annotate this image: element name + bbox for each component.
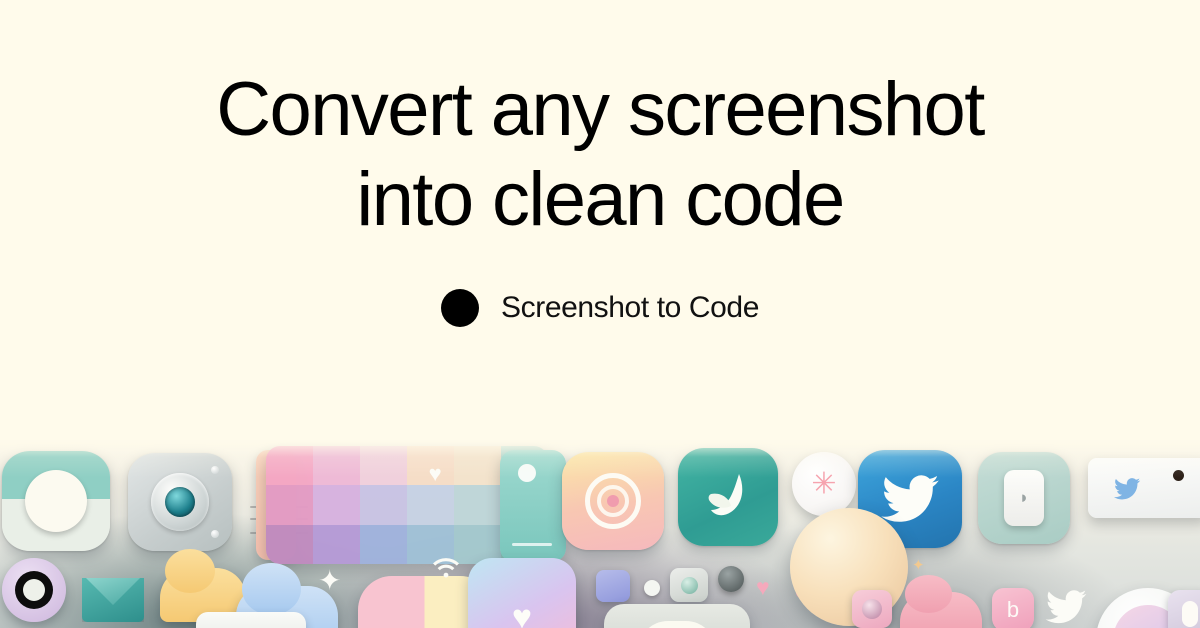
target-rings-icon (585, 473, 641, 529)
letter-b-icon: b (1007, 597, 1019, 623)
teal-circle-tile (2, 451, 110, 551)
white-bird (1044, 590, 1088, 628)
page-title: Convert any screenshot into clean code (216, 65, 983, 244)
leaf-icon (699, 468, 757, 526)
small-camera (670, 568, 708, 602)
twitter-bird-icon (881, 475, 939, 523)
lilac-capsule (1168, 590, 1200, 628)
wifi-icon (432, 558, 460, 587)
black-circle-logo-icon (441, 289, 479, 327)
brand-name: Screenshot to Code (501, 291, 759, 325)
brand: Screenshot to Code (441, 289, 759, 327)
sunset-rings-tile (562, 452, 664, 550)
og-card: Convert any screenshot into clean code S… (0, 0, 1200, 628)
white-chip (196, 612, 306, 628)
headline-line-2: into clean code (356, 157, 843, 242)
dot-icon (1173, 470, 1184, 481)
dark-dot (718, 566, 744, 592)
apple-icon: ◗ (1019, 488, 1029, 508)
white-dot (644, 580, 660, 596)
sparkle-icon: ✦ (318, 564, 341, 597)
pink-cloud (900, 592, 982, 628)
lavender-ring (2, 558, 66, 622)
camera-tile (128, 453, 232, 551)
mint-card-tile: ◗ (978, 452, 1070, 544)
bird-icon (1112, 476, 1142, 507)
headline-line-1: Convert any screenshot (216, 67, 983, 152)
hero-section: Convert any screenshot into clean code S… (0, 0, 1200, 440)
pink-camera-square (852, 590, 892, 628)
pink-b-tile: b (992, 588, 1034, 628)
mint-side-panel (500, 450, 566, 562)
star-blob: ✳ (792, 452, 856, 516)
card-icon: ◗ (1004, 470, 1044, 526)
camera-icon (681, 577, 698, 594)
ring-icon (15, 571, 53, 609)
heart-icon: ♥ (512, 598, 532, 628)
capsule-icon (1182, 601, 1198, 627)
teal-leaf-tile (678, 448, 778, 546)
white-bird-card (1088, 458, 1200, 518)
toggle-icon (518, 464, 536, 482)
gray-panel (604, 604, 750, 628)
star-icon: ✳ (811, 467, 836, 502)
illustration-strip: ♥ ✳ (0, 440, 1200, 628)
periwinkle-square (596, 570, 630, 602)
small-sparkle-icon: ✦ (912, 556, 925, 574)
bar-icon (512, 543, 552, 546)
circle-icon (25, 470, 87, 532)
camera-lens-icon (151, 473, 209, 531)
heart-gradient-tile: ♥ (468, 558, 576, 628)
camera-icon (862, 599, 882, 619)
panel-icon (638, 621, 716, 628)
teal-envelope (82, 572, 144, 622)
heart-icon: ♥ (429, 461, 442, 487)
pink-heart-bead: ♥ (756, 574, 770, 601)
